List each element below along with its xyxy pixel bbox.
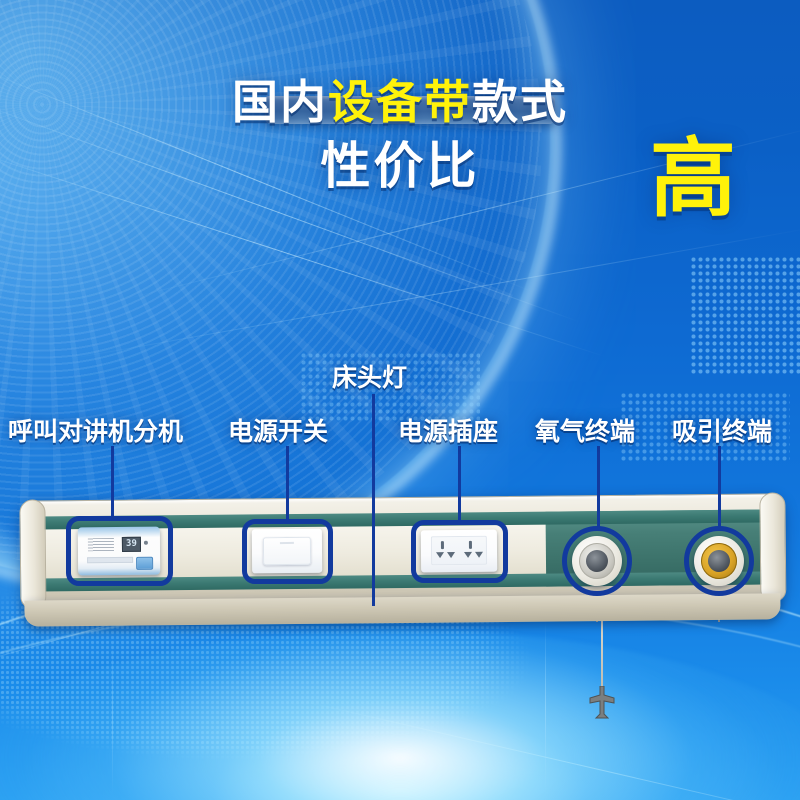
product-banner: 国内设备带款式 性价比 高 呼叫对讲机分机 电源开关 床头灯 电源插座 氧气终端… [0,0,800,800]
dot-grid-right [690,256,800,376]
leader-line-suction-terminal [718,446,721,529]
callout-label-power-socket: 电源插座 [398,412,498,448]
headline-text-shebeidai: 设备带 [328,75,472,129]
callout-box-nurse-call-intercom [66,516,173,586]
vertical-accent-line-1 [545,620,546,795]
callout-label-power-switch: 电源开关 [228,412,328,448]
pull-cord-line[interactable] [601,620,603,692]
callout-label-nurse-call-intercom: 呼叫对讲机分机 [8,412,183,448]
callout-label-oxygen-terminal: 氧气终端 [535,412,635,448]
vertical-accent-line-2 [112,640,113,795]
callout-box-power-socket [411,520,508,583]
headline-emphasis-gao: 高 [650,136,736,222]
headline-text-guonei: 国内 [232,75,328,129]
callout-label-bed-head-lamp: 床头灯 [332,358,407,394]
leader-line-power-socket [458,446,461,523]
rail-end-cap-left [19,499,46,609]
headline-line-1: 国内设备带款式 [0,78,800,126]
leader-line-oxygen-terminal [597,446,600,529]
callout-circle-oxygen-terminal [562,526,632,596]
rail-end-cap-right [759,492,786,602]
leader-line-bed-head-lamp [372,394,375,606]
headline-text-xingjiabi: 性价比 [321,137,480,195]
pull-cord-cross-handle[interactable] [588,686,616,720]
callout-circle-suction-terminal [684,526,754,596]
headline-text-kuanshi: 款式 [472,75,568,129]
callout-label-suction-terminal: 吸引终端 [672,412,772,448]
leader-line-nurse-call-intercom [111,446,114,520]
leader-line-power-switch [286,446,289,522]
callout-box-power-switch [242,519,333,584]
